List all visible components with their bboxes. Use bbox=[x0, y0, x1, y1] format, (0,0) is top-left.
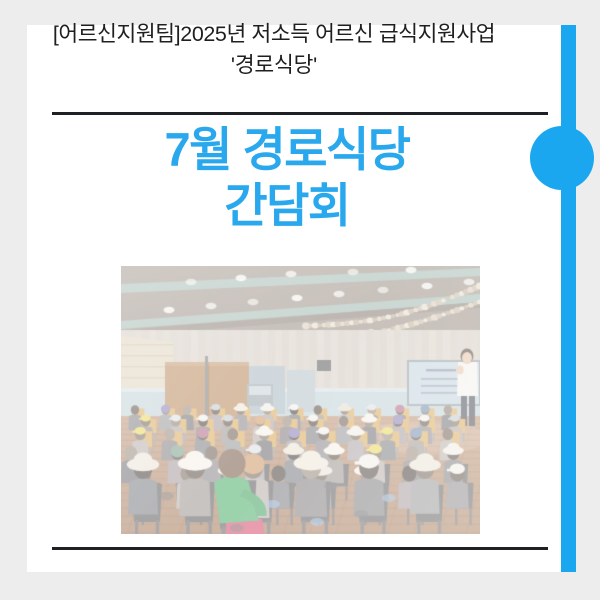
header-line-program: [어르신지원팀]2025년 저소득 어르신 급식지원사업 bbox=[25, 19, 523, 50]
page-title: 7월 경로식당 간담회 bbox=[27, 122, 547, 234]
title-line-2: 간담회 bbox=[27, 178, 547, 234]
event-photo bbox=[121, 266, 480, 534]
accent-bar bbox=[561, 25, 576, 572]
divider-top bbox=[52, 112, 548, 115]
header-block: [어르신지원팀]2025년 저소득 어르신 급식지원사업 '경로식당' bbox=[25, 19, 523, 81]
divider-bottom bbox=[52, 547, 548, 550]
poster-root: [어르신지원팀]2025년 저소득 어르신 급식지원사업 '경로식당' 7월 경… bbox=[0, 0, 600, 600]
event-photo-canvas bbox=[121, 266, 480, 534]
header-line-subtitle: '경로식당' bbox=[25, 50, 523, 81]
title-line-1: 7월 경로식당 bbox=[27, 122, 547, 178]
